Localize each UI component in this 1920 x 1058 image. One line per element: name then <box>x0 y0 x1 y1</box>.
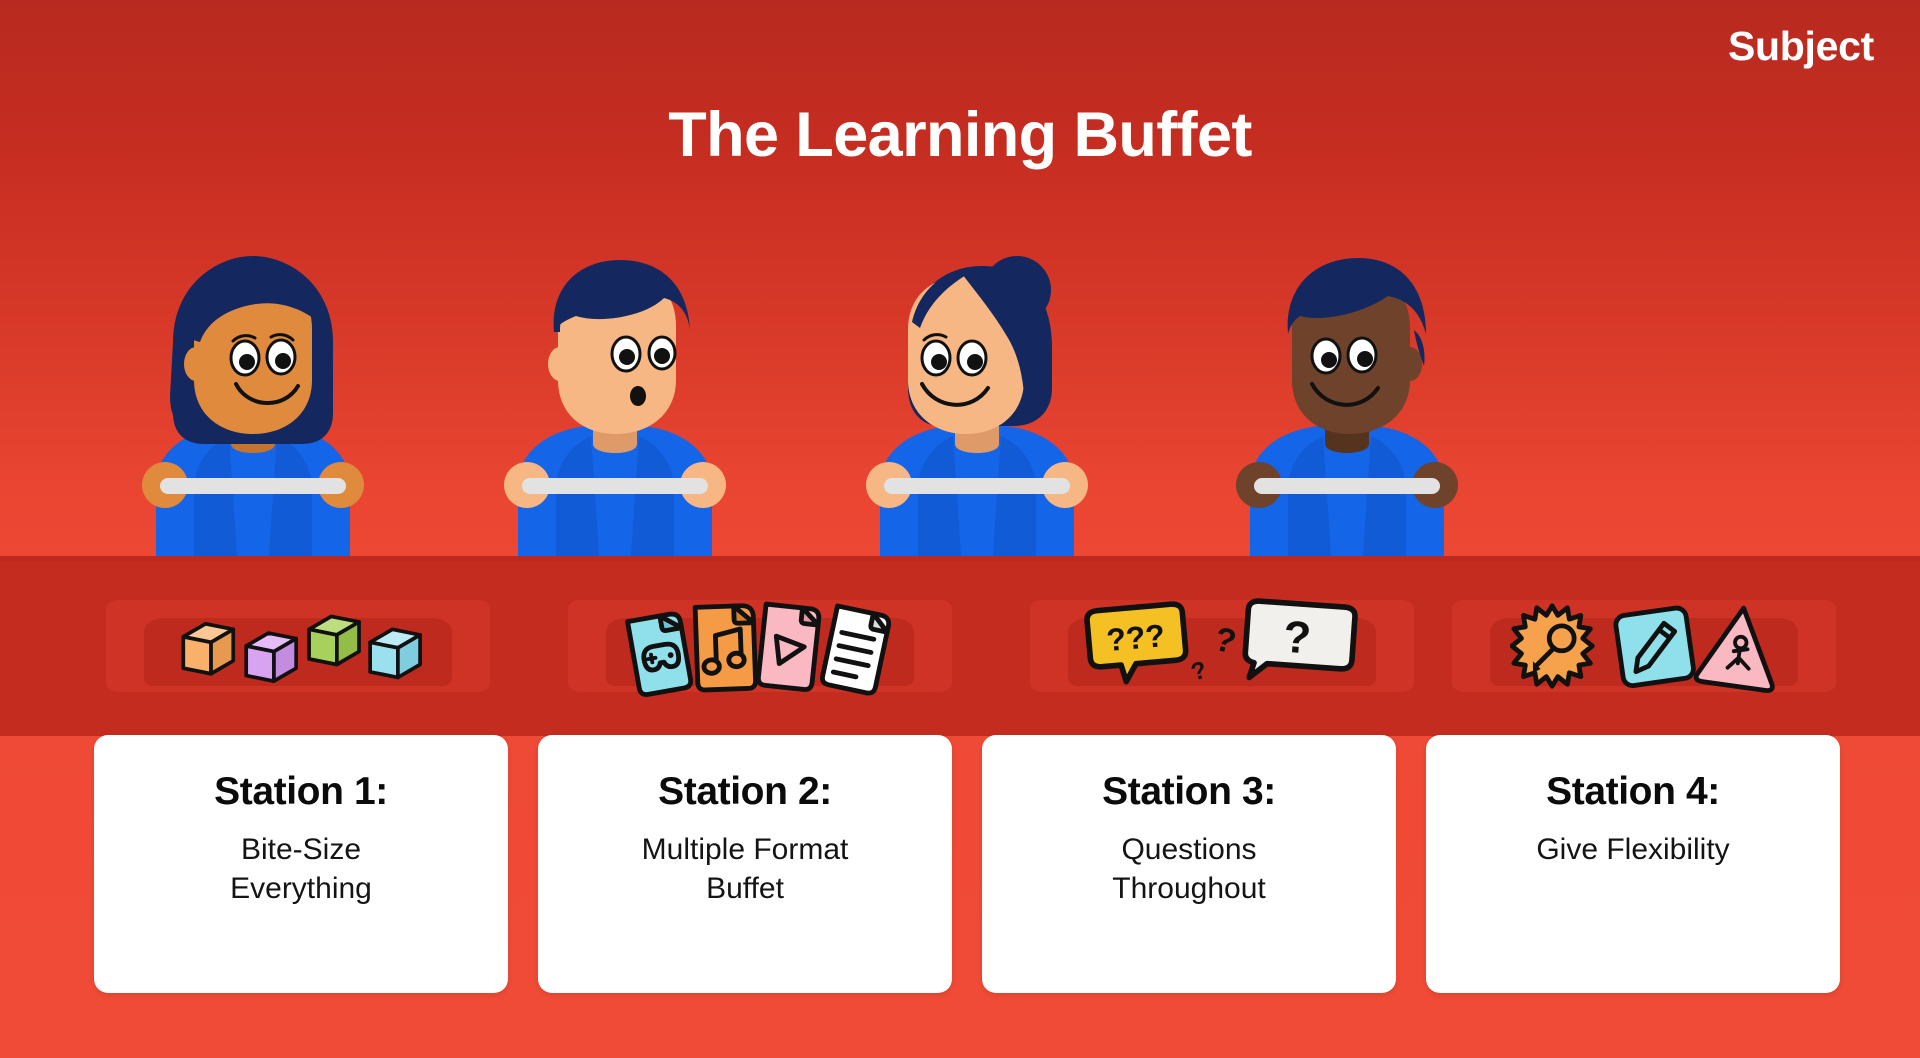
tray-station-2 <box>560 586 960 706</box>
station-card-2[interactable]: Station 2: Multiple Format Buffet <box>538 735 952 993</box>
station-card-1[interactable]: Station 1: Bite-Size Everything <box>94 735 508 993</box>
speech-bubble-icon-yellow: ??? <box>1086 603 1188 684</box>
tray-station-3: ??? ? ? ? <box>1022 586 1422 706</box>
tray-station-4-items <box>1444 586 1844 706</box>
page-title: The Learning Buffet <box>0 104 1920 167</box>
station-card-3-subtitle: Questions Throughout <box>1096 831 1281 908</box>
student-1-illustration <box>88 238 418 568</box>
tray-station-4 <box>1444 586 1844 706</box>
cube-icon-3 <box>309 616 359 664</box>
microphone-badge-icon <box>1512 606 1592 686</box>
station-card-2-title: Station 2: <box>658 771 832 813</box>
station-cards-row: Station 1: Bite-Size Everything Station … <box>0 735 1920 995</box>
station-card-1-title: Station 1: <box>214 771 388 813</box>
cube-icon-1 <box>183 624 233 674</box>
cube-icon-2 <box>246 633 296 681</box>
station-card-4-title: Station 4: <box>1546 771 1720 813</box>
student-3-illustration <box>812 238 1142 568</box>
student-4-illustration <box>1182 238 1512 568</box>
station-card-4-subtitle: Give Flexibility <box>1520 831 1745 869</box>
pencil-square-icon <box>1615 607 1695 687</box>
brand-logo: Subject <box>1728 26 1874 67</box>
question-mark-icon-1: ? <box>1211 620 1240 662</box>
svg-text:?: ? <box>1282 611 1313 664</box>
question-mark-icon-2: ? <box>1188 656 1210 686</box>
cube-icon-4 <box>370 629 420 677</box>
tray-station-1 <box>98 586 498 706</box>
speech-bubble-icon-white: ? <box>1244 600 1356 684</box>
svg-text:???: ??? <box>1105 617 1166 658</box>
walking-person-triangle-icon <box>1696 603 1778 691</box>
station-card-2-subtitle: Multiple Format Buffet <box>626 831 865 908</box>
counter-top-edge <box>0 556 1920 561</box>
station-card-1-subtitle: Bite-Size Everything <box>214 831 388 908</box>
tray-station-2-items <box>560 586 960 706</box>
student-2-illustration <box>450 238 780 568</box>
station-card-4[interactable]: Station 4: Give Flexibility <box>1426 735 1840 993</box>
station-card-3[interactable]: Station 3: Questions Throughout <box>982 735 1396 993</box>
tray-station-1-items <box>98 586 498 706</box>
infographic-slide: Subject The Learning Buffet <box>0 0 1920 1058</box>
music-note-card-icon <box>695 605 756 690</box>
tray-station-3-items: ??? ? ? ? <box>1022 586 1422 706</box>
station-card-3-title: Station 3: <box>1102 771 1276 813</box>
buffet-counter: ??? ? ? ? <box>0 556 1920 736</box>
video-play-card-icon <box>758 604 820 690</box>
students-row <box>0 238 1920 568</box>
text-document-card-icon <box>821 606 890 695</box>
gamepad-card-icon <box>628 613 692 696</box>
